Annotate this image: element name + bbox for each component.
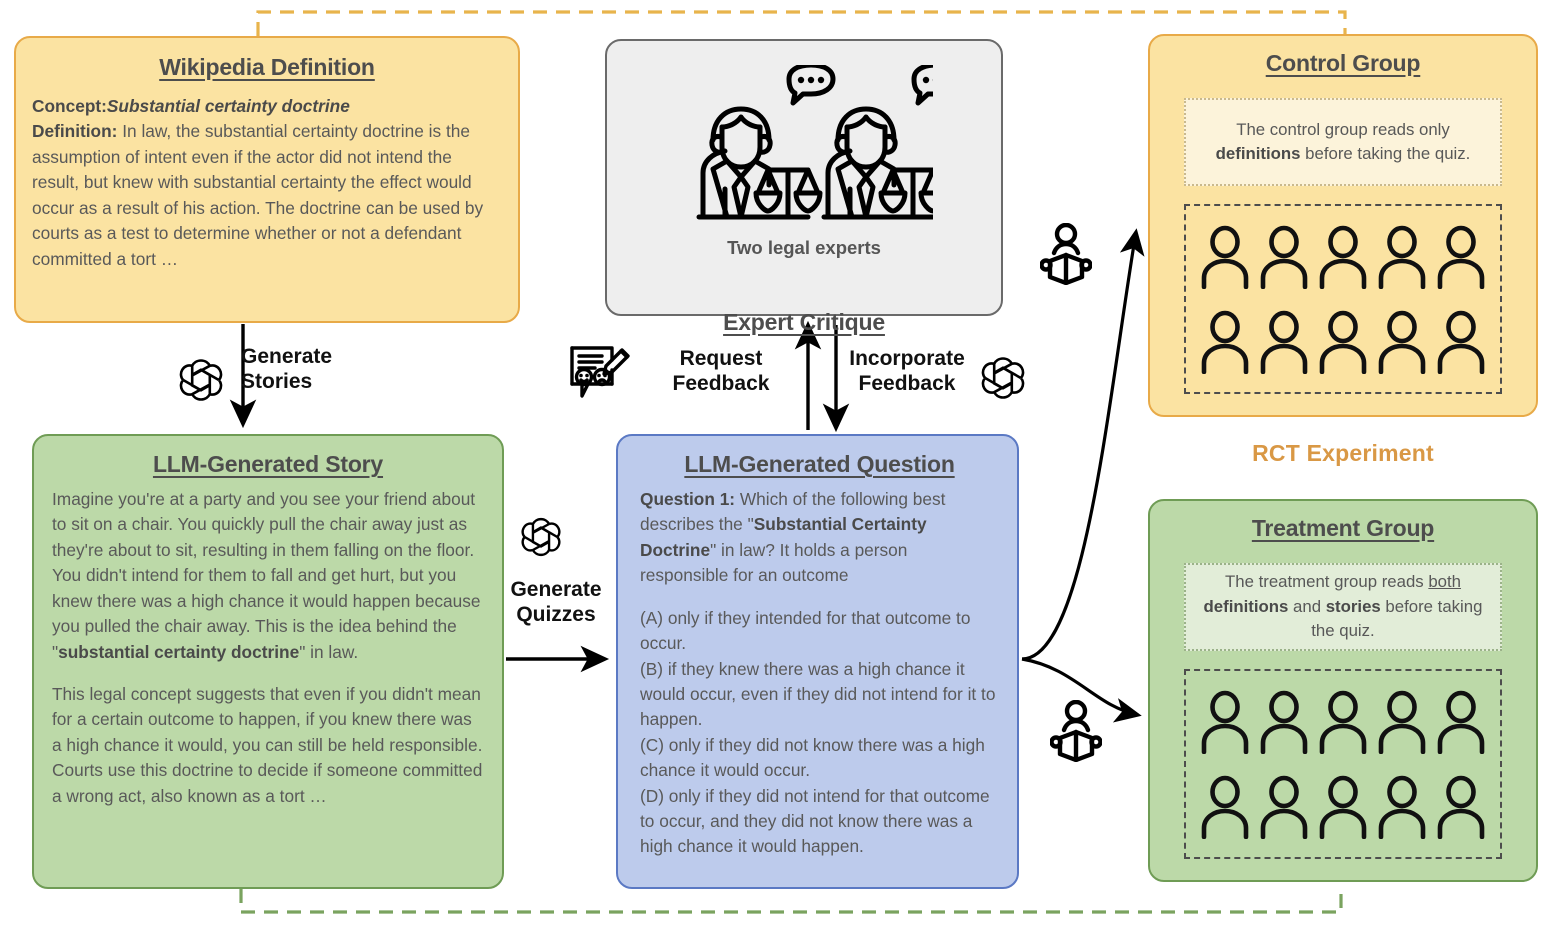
story-body: Imagine you're at a party and you see yo… xyxy=(52,487,484,809)
feedback-note-icon xyxy=(568,340,632,404)
treatment-group-title: Treatment Group xyxy=(1150,515,1536,542)
person-icon xyxy=(1200,690,1250,754)
person-icon xyxy=(1377,225,1427,289)
label-incorporate-feedback-line1: Incorporate xyxy=(818,347,996,372)
expert-caption: Two legal experts xyxy=(607,237,1001,259)
wikipedia-title: Wikipedia Definition xyxy=(32,54,502,81)
wikipedia-body: Concept:Substantial certainty doctrine D… xyxy=(32,94,502,272)
option-a: (A) only if they intended for that outco… xyxy=(640,608,970,653)
option-b: (B) if they knew there was a high chance… xyxy=(640,659,995,730)
story-p1-a: Imagine you're at a party and you see yo… xyxy=(52,489,480,662)
person-reading-icon xyxy=(1050,700,1102,762)
people-row xyxy=(1200,690,1486,754)
treatment-desc-and: and xyxy=(1288,597,1325,616)
control-desc-c: before taking the quiz. xyxy=(1301,144,1471,163)
person-icon xyxy=(1318,775,1368,839)
control-desc-a: The control group reads only xyxy=(1236,120,1450,139)
label-request-feedback-line2: Feedback xyxy=(640,372,802,397)
label-incorporate-feedback-line2: Feedback xyxy=(818,372,996,397)
label-request-feedback-line1: Request xyxy=(640,347,802,372)
label-request-feedback: Request Feedback xyxy=(640,347,802,397)
person-icon xyxy=(1200,225,1250,289)
person-icon xyxy=(1259,775,1309,839)
person-icon xyxy=(1377,690,1427,754)
person-icon xyxy=(1259,310,1309,374)
diagram-canvas: Wikipedia Definition Concept:Substantial… xyxy=(0,0,1564,926)
control-group-title: Control Group xyxy=(1150,50,1536,77)
treatment-group-card: Treatment Group The treatment group read… xyxy=(1148,499,1538,882)
person-icon xyxy=(1259,225,1309,289)
llm-generated-question-card: LLM-Generated Question Question 1: Which… xyxy=(616,434,1019,889)
label-generate-stories: Generate Stories xyxy=(241,345,431,395)
people-row xyxy=(1200,310,1486,374)
person-icon xyxy=(1259,690,1309,754)
story-p1-c: " in law. xyxy=(299,642,358,662)
person-icon xyxy=(1436,310,1486,374)
person-reading-icon xyxy=(1040,223,1092,285)
treatment-group-description: The treatment group reads both definitio… xyxy=(1184,563,1502,651)
concept-value: Substantial certainty doctrine xyxy=(107,96,350,116)
wikipedia-definition-card: Wikipedia Definition Concept:Substantial… xyxy=(14,36,520,323)
control-group-description: The control group reads only definitions… xyxy=(1184,98,1502,186)
people-row xyxy=(1200,775,1486,839)
llm-generated-story-card: LLM-Generated Story Imagine you're at a … xyxy=(32,434,504,889)
label-generate-quizzes-line1: Generate xyxy=(494,578,618,603)
people-row xyxy=(1200,225,1486,289)
control-group-people-frame xyxy=(1184,204,1502,394)
question-options: (A) only if they intended for that outco… xyxy=(640,606,999,860)
openai-logo-icon xyxy=(519,515,563,559)
label-generate-quizzes-line2: Quizzes xyxy=(494,603,618,628)
person-icon xyxy=(1377,310,1427,374)
option-d: (D) only if they did not intend for that… xyxy=(640,786,990,857)
concept-label: Concept: xyxy=(32,96,107,116)
openai-logo-icon xyxy=(979,354,1027,402)
label-generate-stories-line2: Stories xyxy=(241,370,431,395)
treatment-desc-definitions: definitions xyxy=(1204,597,1289,616)
label-generate-quizzes: Generate Quizzes xyxy=(494,578,618,628)
definition-label: Definition: xyxy=(32,121,117,141)
person-icon xyxy=(1318,690,1368,754)
treatment-desc-both: both xyxy=(1428,572,1461,591)
expert-critique-title: Expert Critique xyxy=(607,309,1001,336)
person-icon xyxy=(1436,690,1486,754)
control-group-card: Control Group The control group reads on… xyxy=(1148,34,1538,417)
person-icon xyxy=(1377,775,1427,839)
option-c: (C) only if they did not know there was … xyxy=(640,735,985,780)
question-body: Question 1: Which of the following best … xyxy=(640,487,999,860)
expert-critique-card: Two legal experts Expert Critique xyxy=(605,39,1003,316)
story-paragraph-2: This legal concept suggests that even if… xyxy=(52,682,484,809)
person-icon xyxy=(1200,775,1250,839)
question-title: LLM-Generated Question xyxy=(640,451,999,478)
openai-logo-icon xyxy=(177,356,225,404)
definition-text: In law, the substantial certainty doctri… xyxy=(32,121,483,268)
label-incorporate-feedback: Incorporate Feedback xyxy=(818,347,996,397)
story-title: LLM-Generated Story xyxy=(52,451,484,478)
treatment-group-people-frame xyxy=(1184,669,1502,859)
person-icon xyxy=(1436,225,1486,289)
dashed-stories-to-treatment xyxy=(241,886,1341,912)
control-desc-bold: definitions xyxy=(1216,144,1301,163)
two-legal-experts-icon xyxy=(683,65,933,230)
label-generate-stories-line1: Generate xyxy=(241,345,431,370)
question-stem: Question 1: Which of the following best … xyxy=(640,487,999,589)
treatment-desc-stories: stories xyxy=(1326,597,1381,616)
story-paragraph-1: Imagine you're at a party and you see yo… xyxy=(52,487,484,665)
person-icon xyxy=(1436,775,1486,839)
person-icon xyxy=(1318,225,1368,289)
arrow-to-control-group xyxy=(1022,232,1136,659)
treatment-desc-a: The treatment group reads xyxy=(1225,572,1428,591)
story-p1-bold: substantial certainty doctrine xyxy=(58,642,299,662)
person-icon xyxy=(1318,310,1368,374)
person-icon xyxy=(1200,310,1250,374)
question-number-label: Question 1: xyxy=(640,489,735,509)
rct-experiment-label: RCT Experiment xyxy=(1148,440,1538,467)
